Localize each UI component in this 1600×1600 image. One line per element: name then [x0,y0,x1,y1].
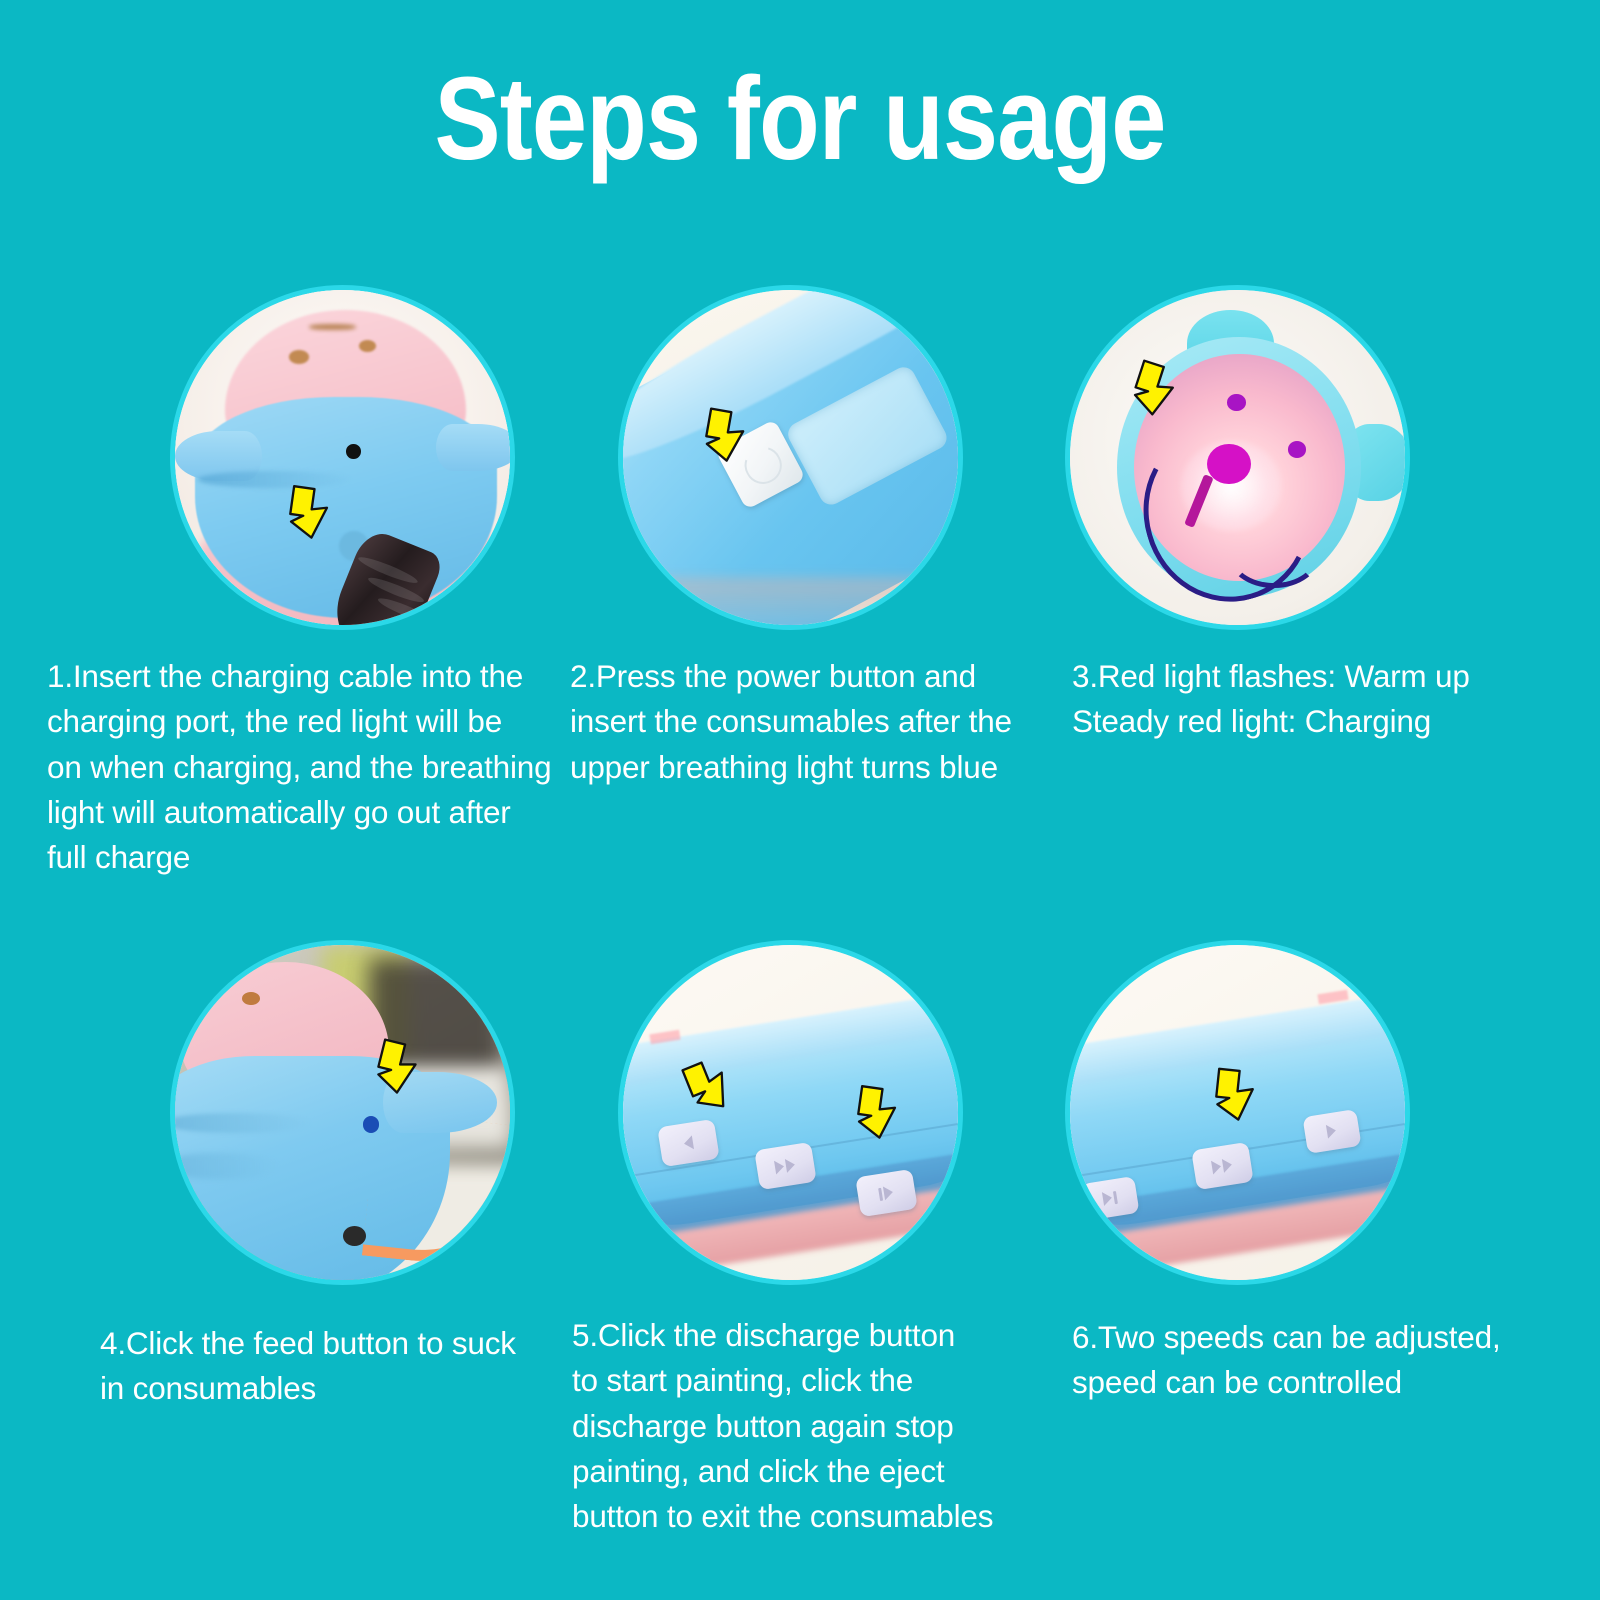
eject-button [657,1118,720,1167]
step-photo-6 [1065,940,1410,1285]
step-caption-1: 1.Insert the charging cable into the cha… [47,654,567,881]
step-photo-1 [170,285,515,630]
pointer-arrow-icon [1206,1064,1268,1128]
step-card-6: 6.Two speeds can be adjusted, speed can … [1050,940,1510,1406]
step-card-1: 1.Insert the charging cable into the cha… [55,285,515,881]
step-card-2: 2.Press the power button and insert the … [560,285,1020,790]
step-caption-3: 3.Red light flashes: Warm up Steady red … [1072,654,1502,745]
discharge-button [1302,1109,1361,1154]
step-card-4: 4.Click the feed button to suck in consu… [55,940,515,1412]
step-photo-2 [618,285,963,630]
step-card-5: 5.Click the discharge button to start pa… [560,940,1020,1540]
pointer-arrow-icon [279,481,343,546]
step-caption-6: 6.Two speeds can be adjusted, speed can … [1072,1315,1512,1406]
steps-grid: 1.Insert the charging cable into the cha… [0,285,1600,1585]
step-caption-5: 5.Click the discharge button to start pa… [572,1313,1012,1540]
pointer-arrow-icon [694,404,759,471]
step-photo-3 [1065,285,1410,630]
step-photo-5 [618,940,963,1285]
step-caption-2: 2.Press the power button and insert the … [570,654,1040,790]
step-card-3: 3.Red light flashes: Warm up Steady red … [1050,285,1510,745]
step-caption-4: 4.Click the feed button to suck in consu… [100,1321,570,1412]
page-title: Steps for usage [128,58,1472,182]
eject-button [1081,1176,1140,1221]
step-photo-4 [170,940,515,1285]
pointer-arrow-icon [847,1081,911,1146]
